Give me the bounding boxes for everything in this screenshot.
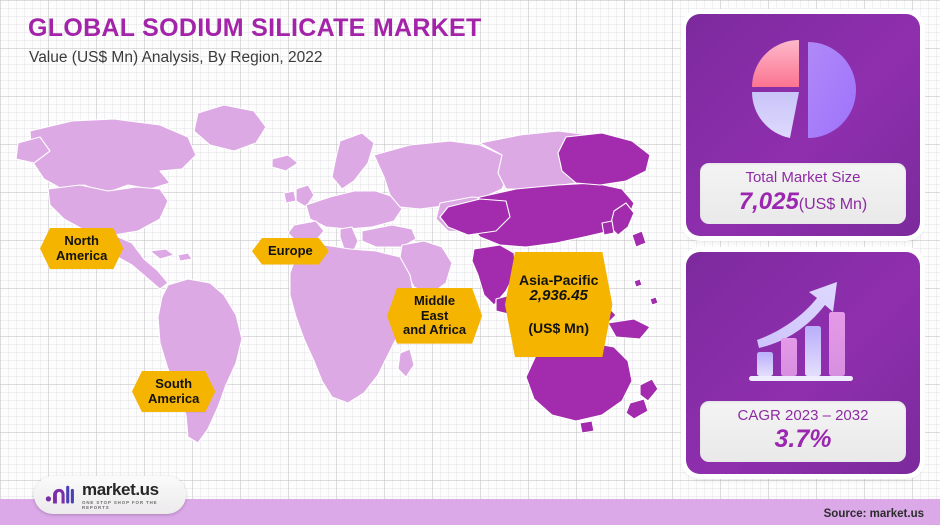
map-label-asia-pacific: Asia-Pacific 2,936.45 (US$ Mn) (505, 252, 612, 357)
total-market-size-number: 7,025 (739, 188, 799, 215)
page-subtitle: Value (US$ Mn) Analysis, By Region, 2022 (29, 49, 323, 67)
pie-chart-icon (686, 14, 920, 164)
source-text: Source: market.us (824, 508, 924, 520)
logo-tagline: ONE STOP SHOP FOR THE REPORTS (82, 500, 186, 510)
asia-pacific-unit: (US$ Mn) (519, 321, 598, 337)
total-market-size-figure: 7,025(US$ Mn) (704, 188, 902, 216)
page-title: GLOBAL SODIUM SILICATE MARKET (28, 14, 482, 43)
total-market-size-card: Total Market Size 7,025(US$ Mn) (686, 14, 920, 236)
total-market-size-label: Total Market Size 7,025(US$ Mn) (700, 163, 906, 224)
map-label-europe: Europe (252, 238, 329, 265)
map-label-middle-east-and-africa: Middle East and Africa (387, 288, 482, 344)
logo-name: market.us (82, 481, 186, 498)
infographic-root: GLOBAL SODIUM SILICATE MARKET Value (US$… (0, 0, 940, 525)
cagr-card: CAGR 2023 – 2032 3.7% (686, 252, 920, 474)
cagr-caption: CAGR 2023 – 2032 (704, 407, 902, 425)
map-label-south-america: South America (132, 371, 215, 412)
cagr-label: CAGR 2023 – 2032 3.7% (700, 401, 906, 462)
total-market-size-caption: Total Market Size (704, 169, 902, 187)
growth-bar-chart-icon (686, 252, 920, 402)
asia-pacific-value: 2,936.45 (519, 288, 598, 305)
asia-pacific-name: Asia-Pacific (519, 272, 598, 288)
market-us-logo: market.us ONE STOP SHOP FOR THE REPORTS (34, 476, 186, 514)
logo-mark-icon (43, 483, 77, 507)
cagr-value: 3.7% (704, 425, 902, 454)
total-market-size-unit: (US$ Mn) (799, 196, 867, 213)
map-label-north-america: North America (40, 228, 123, 269)
logo-text: market.us ONE STOP SHOP FOR THE REPORTS (82, 481, 186, 510)
